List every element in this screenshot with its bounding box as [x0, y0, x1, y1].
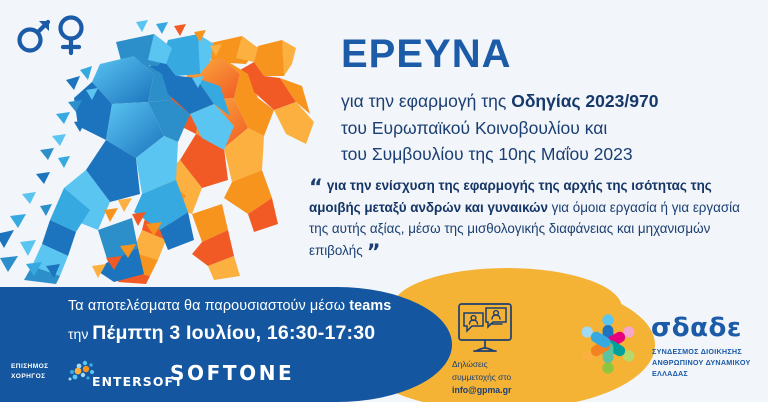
- subtitle-line-1-prefix: για την εφαρμογή της: [341, 91, 511, 111]
- sdade-logo-mark: [572, 308, 644, 380]
- monitor-video-call-icon: [452, 299, 518, 357]
- results-line-2: την Πέμπτη 3 Ιουλίου, 16:30-17:30: [68, 322, 375, 345]
- results-line-2-prefix: την: [68, 326, 92, 342]
- sponsor-label-line-1: ΕΠΙΣΗΜΟΣ: [11, 362, 49, 372]
- subtitle-line-1: για την εφαρμογή της Οδηγίας 2023/970: [341, 88, 658, 115]
- subtitle-block: για την εφαρμογή της Οδηγίας 2023/970 το…: [341, 88, 658, 168]
- subtitle-line-1-bold: Οδηγίας 2023/970: [511, 91, 658, 111]
- sdade-full-name-line-2: ΑΝΘΡΩΠΙΝΟΥ ΔΥΝΑΜΙΚΟΥ: [652, 357, 751, 368]
- sdade-full-name: ΣΥΝΔΕΣΜΟΣ ΔΙΟΙΚΗΣΗΣ ΑΝΘΡΩΠΙΝΟΥ ΔΥΝΑΜΙΚΟΥ…: [652, 346, 751, 379]
- quote-close-icon: ”: [367, 246, 380, 259]
- registration-text: Δηλώσεις συμμετοχής στο info@gpma.gr: [452, 358, 511, 397]
- registration-line-1: Δηλώσεις: [452, 358, 511, 371]
- sdade-full-name-line-3: ΕΛΛΑΔΑΣ: [652, 368, 751, 379]
- registration-email[interactable]: info@gpma.gr: [452, 385, 511, 395]
- quote-text: για την ενίσχυση της εφαρμογής της αρχής…: [309, 175, 761, 262]
- runners-illustration: [0, 18, 326, 286]
- softone-logo[interactable]: SOFTONE: [170, 361, 294, 385]
- subtitle-line-2: του Ευρωπαϊκού Κοινοβουλίου και: [341, 115, 658, 142]
- sdade-full-name-line-1: ΣΥΝΔΕΣΜΟΣ ΔΙΟΙΚΗΣΗΣ: [652, 346, 751, 357]
- sponsor-label: ΕΠΙΣΗΜΟΣ ΧΟΡΗΓΟΣ: [11, 362, 49, 381]
- sdade-pinwheel-icon: [572, 308, 644, 380]
- results-line-1: Τα αποτελέσματα θα παρουσιαστούν μέσω te…: [68, 298, 391, 314]
- results-line-1-bold: teams: [349, 298, 391, 314]
- subtitle-line-3: του Συμβουλίου της 10ης Μαΐου 2023: [341, 141, 658, 168]
- runners-lowpoly-svg: [0, 18, 326, 286]
- registration-line-2: συμμετοχής στο: [452, 371, 511, 384]
- page-title: ΕΡΕΥΝΑ: [341, 34, 512, 74]
- results-datetime: Πέμπτη 3 Ιουλίου, 16:30-17:30: [92, 322, 375, 344]
- quote-block: “ για την ενίσχυση της εφαρμογής της αρχ…: [309, 175, 761, 262]
- entersoft-logo[interactable]: ENTERSOFT: [66, 358, 182, 390]
- registration-monitor-icon: [452, 299, 518, 357]
- results-line-1-prefix: Τα αποτελέσματα θα παρουσιαστούν μέσω: [68, 298, 349, 314]
- quote-open-icon: “: [309, 181, 322, 194]
- sponsor-label-line-2: ΧΟΡΗΓΟΣ: [11, 372, 49, 382]
- poster-canvas: ΕΡΕΥΝΑ για την εφαρμογή της Οδηγίας 2023…: [0, 0, 768, 402]
- sdade-wordmark: σδαδε: [651, 313, 742, 343]
